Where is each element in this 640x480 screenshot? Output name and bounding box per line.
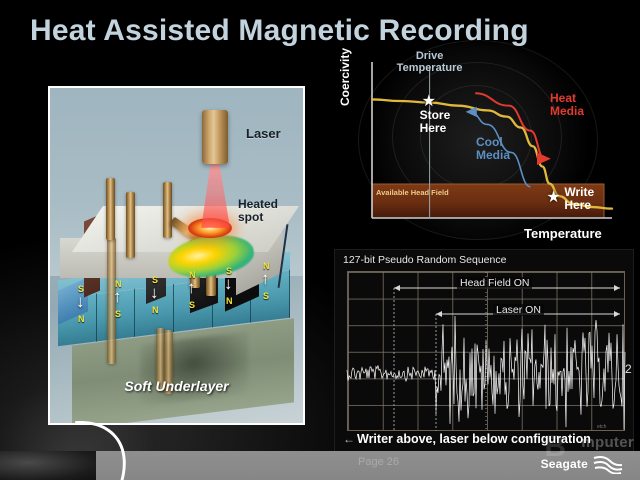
store-here-label: StoreHere <box>420 109 451 135</box>
oscilloscope-readback-panel: 127-bit Pseudo Random Sequence Head Fiel… <box>334 249 634 457</box>
domain-magnetization-arrow: ↓ <box>76 297 85 307</box>
coil-rod-1 <box>106 178 115 240</box>
laser-on-annotation: Laser ON <box>493 304 544 316</box>
soft-underlayer-label: Soft Underlayer <box>50 378 303 394</box>
domain-bottom-pole: S <box>189 300 195 310</box>
coil-rod-2 <box>126 192 135 258</box>
domain-bottom-pole: S <box>263 291 269 301</box>
domain-magnetization-arrow: ↓ <box>150 288 159 298</box>
page-title: Heat Assisted Magnetic Recording <box>30 14 610 48</box>
available-head-field-label: Available Head Field <box>376 188 449 197</box>
write-here-star-marker: ★ <box>546 190 560 206</box>
heat-media-label: HeatMedia <box>550 92 584 118</box>
domain-bottom-pole: N <box>78 314 85 324</box>
seagate-wave-logo-icon <box>592 454 624 474</box>
domain-magnetization-arrow: ↑ <box>187 283 196 293</box>
watermark-initial: B <box>544 430 566 464</box>
head-field-on-annotation: Head Field ON <box>457 277 532 289</box>
laser-label: Laser <box>246 126 281 141</box>
domain-bottom-pole: S <box>115 309 121 319</box>
coil-rod-3 <box>163 182 172 238</box>
scope-channel-marker: 2 <box>625 362 632 376</box>
cool-media-label: CoolMedia <box>476 136 510 162</box>
drive-temperature-annotation: DriveTemperature <box>380 50 480 74</box>
domain-magnetization-arrow: ↓ <box>224 279 233 289</box>
heated-spot-label: Heated spot <box>238 198 300 224</box>
scope-back-arrow-icon: ← <box>343 432 355 446</box>
chart-x-axis-label: Temperature <box>524 226 602 241</box>
coercivity-vs-temperature-chart: Coercivity Temperature DriveTemperature … <box>336 48 636 246</box>
scope-etch-text: etch <box>597 424 606 430</box>
slide-canvas: Heat Assisted Magnetic Recording L <box>0 0 640 480</box>
domain-bottom-pole: N <box>226 296 233 306</box>
domain-magnetization-arrow: ↑ <box>261 274 270 284</box>
page-number: Page 26 <box>358 456 399 468</box>
watermark-text: mputer <box>581 434 634 451</box>
domain-bottom-pole: N <box>152 305 159 315</box>
write-here-label: WriteHere <box>564 186 594 212</box>
chart-y-axis-label: Coercivity <box>338 48 352 106</box>
laser-source-cylinder <box>202 110 228 164</box>
store-here-star-marker: ★ <box>422 94 436 110</box>
hamr-head-media-3d-illustration: Laser Heated spot S↓NN↑SS↓NN↑SS↓NN↑S Sof… <box>48 86 305 425</box>
domain-magnetization-arrow: ↑ <box>113 292 122 302</box>
